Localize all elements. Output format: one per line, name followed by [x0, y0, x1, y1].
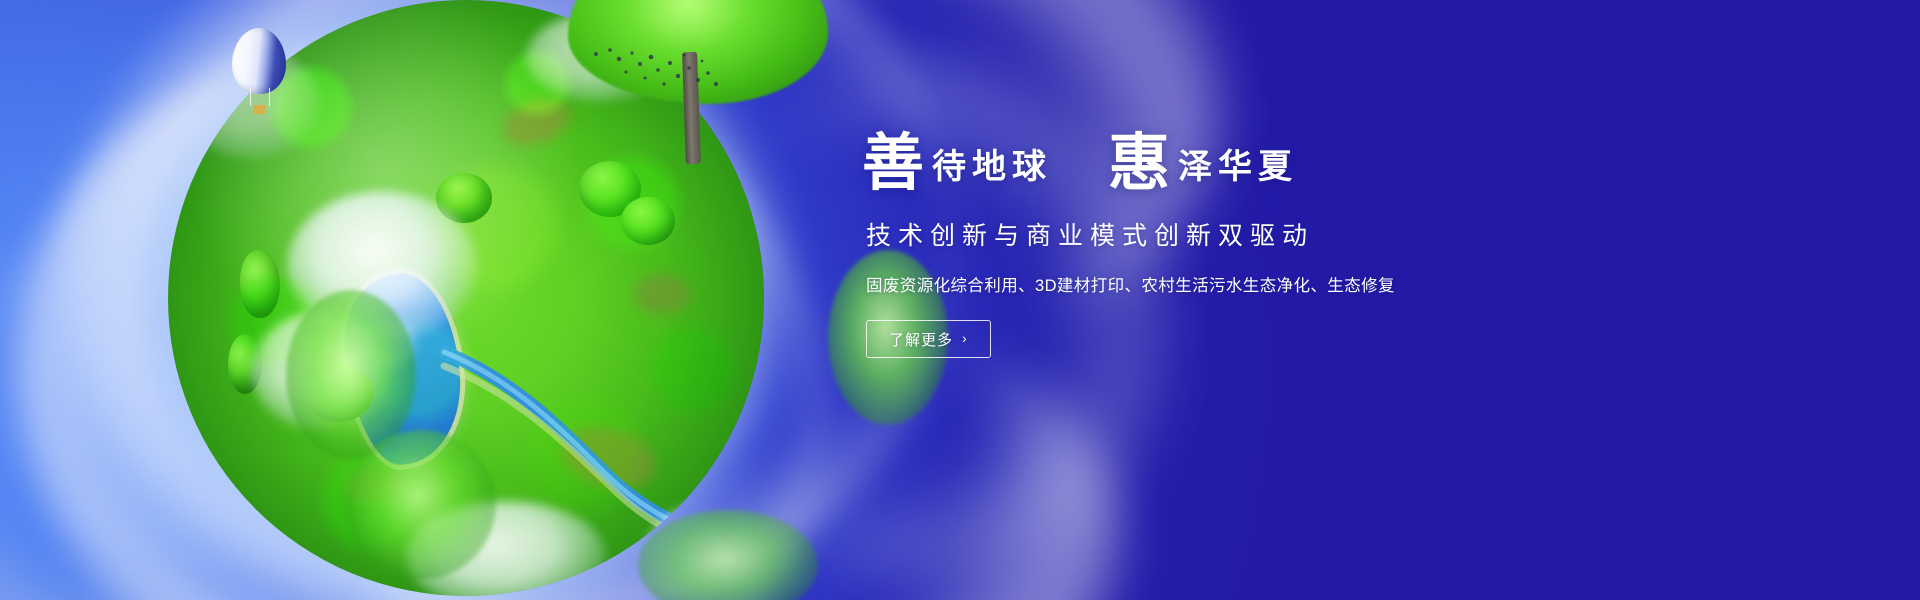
balloon-lines [250, 88, 270, 106]
bird-flock-icon [588, 46, 728, 92]
balloon-envelope [232, 28, 286, 94]
learn-more-button[interactable]: 了解更多 › [866, 320, 991, 358]
headline-phrase-1: 待地球 [924, 150, 1052, 190]
tree-bush [228, 334, 262, 394]
earth-patch [556, 418, 663, 498]
learn-more-label: 了解更多 [889, 329, 953, 350]
chevron-right-icon: › [962, 331, 968, 345]
headline-char-2: 惠 [1108, 132, 1170, 194]
earth-patch [497, 91, 577, 154]
edge-tree [346, 430, 496, 580]
hero-description: 固废资源化综合利用、3D建材打印、农村生活污水生态净化、生态修复 [866, 272, 1562, 296]
tree-bush [621, 197, 675, 245]
balloon-basket [253, 105, 266, 114]
earth-patch [633, 274, 691, 314]
tree-bush [436, 173, 492, 223]
hot-air-balloon-icon [232, 28, 286, 124]
tree-bush [240, 250, 280, 318]
hero-headline: 善 待地球 惠 泽华夏 [862, 128, 1562, 190]
headline-char-1: 善 [862, 132, 924, 194]
hero-content: 善 待地球 惠 泽华夏 技术创新与商业模式创新双驱动 固废资源化综合利用、3D建… [862, 128, 1562, 358]
hero-banner: 善 待地球 惠 泽华夏 技术创新与商业模式创新双驱动 固废资源化综合利用、3D建… [0, 0, 1920, 600]
hero-subtitle: 技术创新与商业模式创新双驱动 [866, 216, 1562, 252]
headline-phrase-2: 泽华夏 [1170, 150, 1298, 190]
